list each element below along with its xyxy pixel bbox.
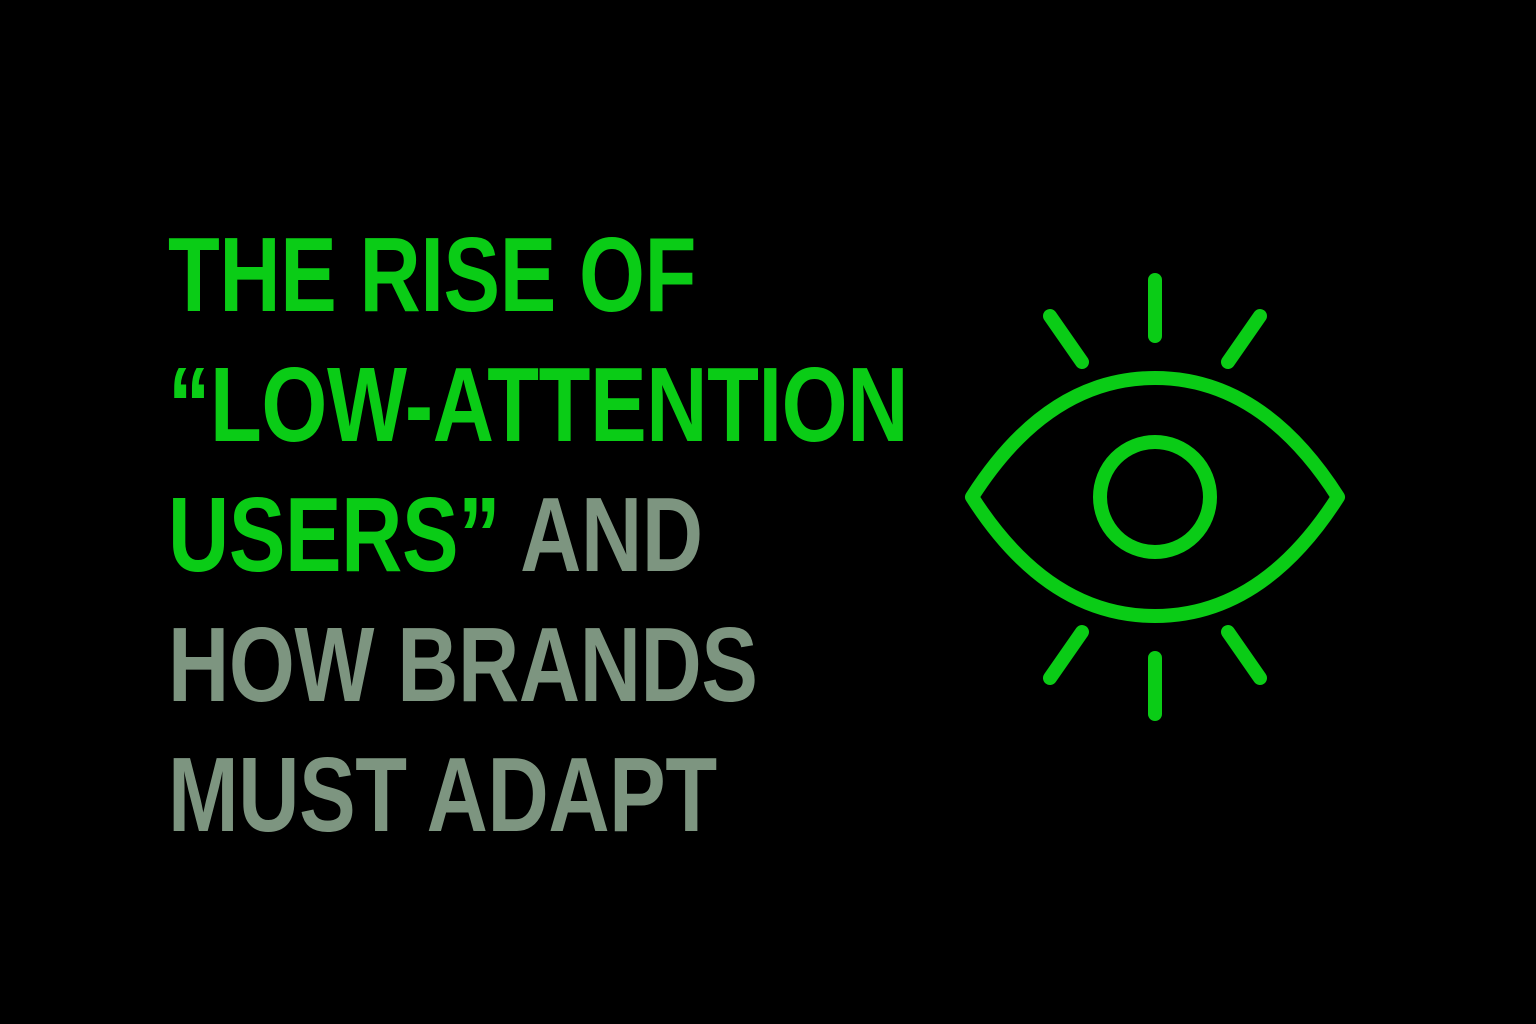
headline-segment: THE RISE OF bbox=[168, 216, 696, 334]
ray-top-right bbox=[1228, 316, 1260, 362]
headline-segment: USERS” bbox=[168, 476, 500, 594]
headline-segment: HOW BRANDS bbox=[168, 606, 758, 724]
headline-line-2: “LOW-ATTENTION bbox=[168, 340, 856, 470]
headline-segment: AND bbox=[500, 476, 703, 594]
ray-bottom-left bbox=[1050, 632, 1082, 678]
ray-bottom-right bbox=[1228, 632, 1260, 678]
headline-line-3: USERS” AND bbox=[168, 470, 856, 600]
headline-line-1: THE RISE OF bbox=[168, 210, 856, 340]
ray-top-left bbox=[1050, 316, 1082, 362]
eye-pupil-circle bbox=[1100, 442, 1210, 552]
headline-block: THE RISE OF “LOW-ATTENTION USERS” AND HO… bbox=[168, 210, 1028, 860]
poster-canvas: THE RISE OF “LOW-ATTENTION USERS” AND HO… bbox=[0, 0, 1536, 1024]
headline-segment: “LOW-ATTENTION bbox=[168, 346, 908, 464]
headline-line-5: MUST ADAPT bbox=[168, 730, 856, 860]
headline-segment: MUST ADAPT bbox=[168, 736, 717, 854]
headline-line-4: HOW BRANDS bbox=[168, 600, 856, 730]
